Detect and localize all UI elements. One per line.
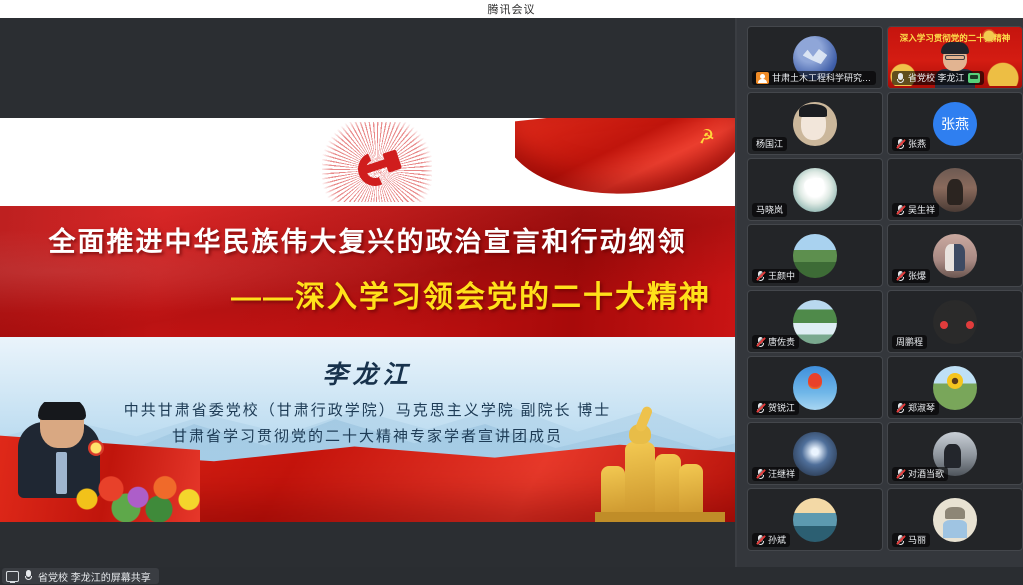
participant-name: 唐佐贵: [768, 335, 795, 349]
avatar: [793, 168, 837, 212]
slide-speaker-name: 李龙江: [0, 355, 735, 391]
waterfall-avatar: [793, 300, 837, 344]
avatar: [793, 234, 837, 278]
avatar-initials: 张燕: [933, 102, 977, 146]
avatar: [793, 498, 837, 542]
participant-name: 张燕: [908, 137, 926, 151]
participant-name-tag: 周鹏程: [892, 335, 927, 349]
landscape-avatar: [793, 234, 837, 278]
avatar: [793, 432, 837, 476]
participant-tile[interactable]: 甘肃土木工程科学研究院...: [747, 26, 883, 89]
slide-title-band: 全面推进中华民族伟大复兴的政治宣言和行动纲领 ——深入学习领会党的二十大精神: [0, 206, 735, 337]
mic-muted-icon: [756, 469, 765, 480]
participant-name-tag: 马丽: [892, 533, 930, 547]
avatar: [793, 300, 837, 344]
participant-name-tag: 吴生祥: [892, 203, 939, 217]
participant-name: 杨国江: [756, 137, 783, 151]
participant-name-tag: 张爆: [892, 269, 930, 283]
participant-name: 郑淑琴: [908, 401, 935, 415]
party-emblem-icon: [352, 146, 404, 190]
share-status-bar: 省党校 李龙江的屏幕共享: [0, 567, 1023, 585]
mic-muted-icon: [896, 205, 905, 216]
participant-tile[interactable]: 张爆: [887, 224, 1023, 287]
microphone-icon: [896, 73, 905, 84]
participant-tile[interactable]: 贺锐江: [747, 356, 883, 419]
participant-tile[interactable]: 周鹏程: [887, 290, 1023, 353]
participant-name-tag: 唐佐贵: [752, 335, 799, 349]
mic-muted-icon: [896, 469, 905, 480]
participant-name-tag: 张燕: [892, 137, 930, 151]
mic-muted-icon: [756, 403, 765, 414]
participant-name: 孙斌: [768, 533, 786, 547]
microphone-icon: [24, 570, 33, 582]
kumamon-bear-avatar: [933, 300, 977, 344]
hot-air-balloon-avatar: [793, 366, 837, 410]
participant-name-tag: 郑淑琴: [892, 401, 939, 415]
mic-muted-icon: [896, 139, 905, 150]
participant-name: 马丽: [908, 533, 926, 547]
avatar: [933, 234, 977, 278]
participant-name: 省党校 李龙江: [908, 71, 965, 85]
participant-name-tag: 孙斌: [752, 533, 790, 547]
night-sky-avatar: [793, 432, 837, 476]
participant-tile[interactable]: 孙斌: [747, 488, 883, 551]
participant-name: 对酒当歌: [908, 467, 944, 481]
couple-photo-avatar: [933, 234, 977, 278]
mic-muted-icon: [896, 535, 905, 546]
participant-tile-grid: 甘肃土木工程科学研究院...深入学习贯彻党的二十大精神省党校 李龙江杨国江张燕张…: [737, 18, 1023, 567]
avatar: [933, 300, 977, 344]
window-title-bar: 腾讯会议: [0, 0, 1023, 18]
slide-speaker-band: 李龙江 中共甘肃省委党校（甘肃行政学院）马克思主义学院 副院长 博士 甘肃省学习…: [0, 337, 735, 522]
participant-name: 王颜中: [768, 269, 795, 283]
emblem-icon: [982, 29, 996, 43]
share-status-text: 省党校 李龙江的屏幕共享: [38, 569, 151, 584]
avatar: [793, 102, 837, 146]
participant-name-tag: 省党校 李龙江: [892, 71, 984, 85]
avatar: [793, 366, 837, 410]
portrait-avatar: [793, 102, 837, 146]
meeting-window: 腾讯会议 ☭ 全面推进中华民族伟大复兴的政治宣言和行动纲领 ——深入学习领会党的…: [0, 0, 1023, 585]
participant-name-tag: 杨国江: [752, 137, 787, 151]
mic-muted-icon: [896, 403, 905, 414]
participant-tile[interactable]: 吴生祥: [887, 158, 1023, 221]
participant-tile[interactable]: 郑淑琴: [887, 356, 1023, 419]
participant-name: 周鹏程: [896, 335, 923, 349]
participant-name-tag: 贺锐江: [752, 401, 799, 415]
participant-tile[interactable]: 马丽: [887, 488, 1023, 551]
mic-muted-icon: [756, 535, 765, 546]
gold-decor-right: [986, 60, 1020, 86]
participant-name: 马晓岚: [756, 203, 783, 217]
participant-name: 吴生祥: [908, 203, 935, 217]
host-icon: [756, 72, 769, 84]
participant-name: 甘肃土木工程科学研究院...: [772, 71, 872, 85]
person-with-hat-avatar: [933, 498, 977, 542]
participant-name-tag: 汪继祥: [752, 467, 799, 481]
avatar: [933, 498, 977, 542]
participant-tile[interactable]: 对酒当歌: [887, 422, 1023, 485]
presentation-slide: ☭ 全面推进中华民族伟大复兴的政治宣言和行动纲领 ——深入学习领会党的二十大精神…: [0, 118, 735, 522]
mic-muted-icon: [896, 271, 905, 282]
avatar: [933, 366, 977, 410]
avatar: 张燕: [933, 102, 977, 146]
flowers-avatar: [793, 168, 837, 212]
participant-name: 汪继祥: [768, 467, 795, 481]
mic-muted-icon: [756, 271, 765, 282]
screen-share-icon: [968, 73, 980, 83]
participant-tile[interactable]: 深入学习贯彻党的二十大精神省党校 李龙江: [887, 26, 1023, 89]
slide-title-main: 全面推进中华民族伟大复兴的政治宣言和行动纲领: [0, 220, 735, 259]
mic-muted-icon: [756, 337, 765, 348]
slide-title-sub: ——深入学习领会党的二十大精神: [0, 272, 711, 316]
slide-header-band: ☭: [0, 118, 735, 206]
red-flag-icon: ☭: [515, 118, 735, 202]
participant-name-tag: 对酒当歌: [892, 467, 948, 481]
share-status-pill: 省党校 李龙江的屏幕共享: [2, 568, 159, 584]
participant-name-tag: 王颜中: [752, 269, 799, 283]
participant-name: 贺锐江: [768, 401, 795, 415]
participant-name-tag: 马晓岚: [752, 203, 787, 217]
leader-photo-icon: [0, 402, 200, 522]
heroic-statue-icon: [595, 416, 725, 522]
participants-panel[interactable]: 甘肃土木工程科学研究院...深入学习贯彻党的二十大精神省党校 李龙江杨国江张燕张…: [735, 18, 1023, 567]
participant-tile[interactable]: 汪继祥: [747, 422, 883, 485]
participant-tile[interactable]: 马晓岚: [747, 158, 883, 221]
photo-avatar: [933, 168, 977, 212]
participant-tile[interactable]: 唐佐贵: [747, 290, 883, 353]
participant-tile[interactable]: 杨国江: [747, 92, 883, 155]
window-title: 腾讯会议: [488, 1, 536, 17]
screen-share-icon: [6, 571, 19, 582]
participant-name-tag: 甘肃土木工程科学研究院...: [752, 71, 876, 85]
avatar: [933, 168, 977, 212]
participant-name: 张爆: [908, 269, 926, 283]
seaside-avatar: [793, 498, 837, 542]
participant-tile[interactable]: 王颜中: [747, 224, 883, 287]
sunflower-avatar: [933, 366, 977, 410]
shared-screen-stage[interactable]: ☭ 全面推进中华民族伟大复兴的政治宣言和行动纲领 ——深入学习领会党的二十大精神…: [0, 18, 735, 567]
participant-tile[interactable]: 张燕张燕: [887, 92, 1023, 155]
